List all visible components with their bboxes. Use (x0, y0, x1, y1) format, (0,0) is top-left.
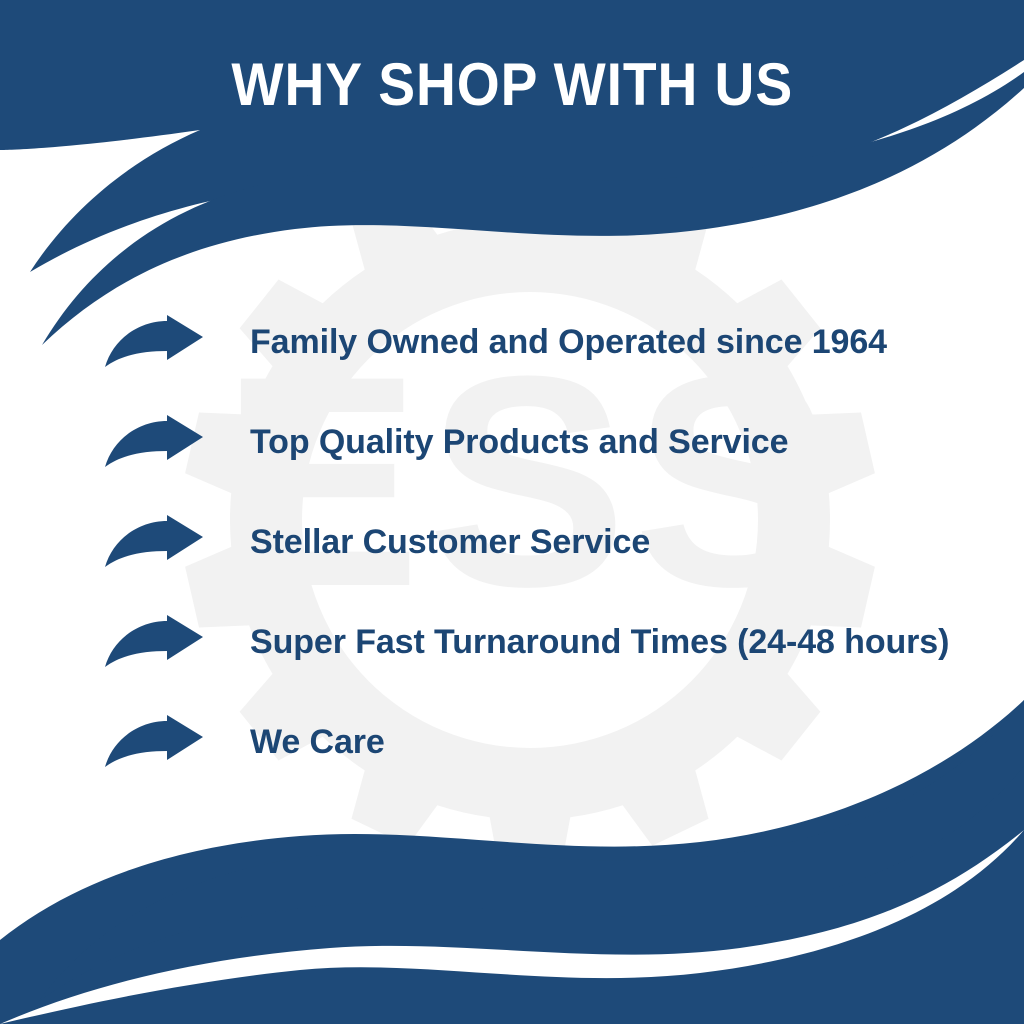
page-title-container: WHY SHOP WITH US (0, 12, 1024, 158)
list-item: Super Fast Turnaround Times (24-48 hours… (0, 592, 1024, 692)
benefit-label: We Care (250, 722, 1024, 762)
list-item: We Care (0, 692, 1024, 792)
page-title: WHY SHOP WITH US (231, 52, 793, 118)
curved-arrow-icon (105, 415, 210, 469)
benefit-label: Super Fast Turnaround Times (24-48 hours… (250, 622, 1024, 662)
list-item: Top Quality Products and Service (0, 392, 1024, 492)
benefits-list: Family Owned and Operated since 1964 Top… (0, 292, 1024, 792)
curved-arrow-icon (105, 315, 210, 369)
list-item: Family Owned and Operated since 1964 (0, 292, 1024, 392)
benefit-label: Stellar Customer Service (250, 522, 1024, 562)
benefit-label: Family Owned and Operated since 1964 (250, 322, 1024, 362)
curved-arrow-icon (105, 615, 210, 669)
benefit-label: Top Quality Products and Service (250, 422, 1024, 462)
why-shop-with-us-poster: ESS WHY SHOP WITH US Family Owned and Op… (0, 0, 1024, 1024)
curved-arrow-icon (105, 515, 210, 569)
curved-arrow-icon (105, 715, 210, 769)
list-item: Stellar Customer Service (0, 492, 1024, 592)
